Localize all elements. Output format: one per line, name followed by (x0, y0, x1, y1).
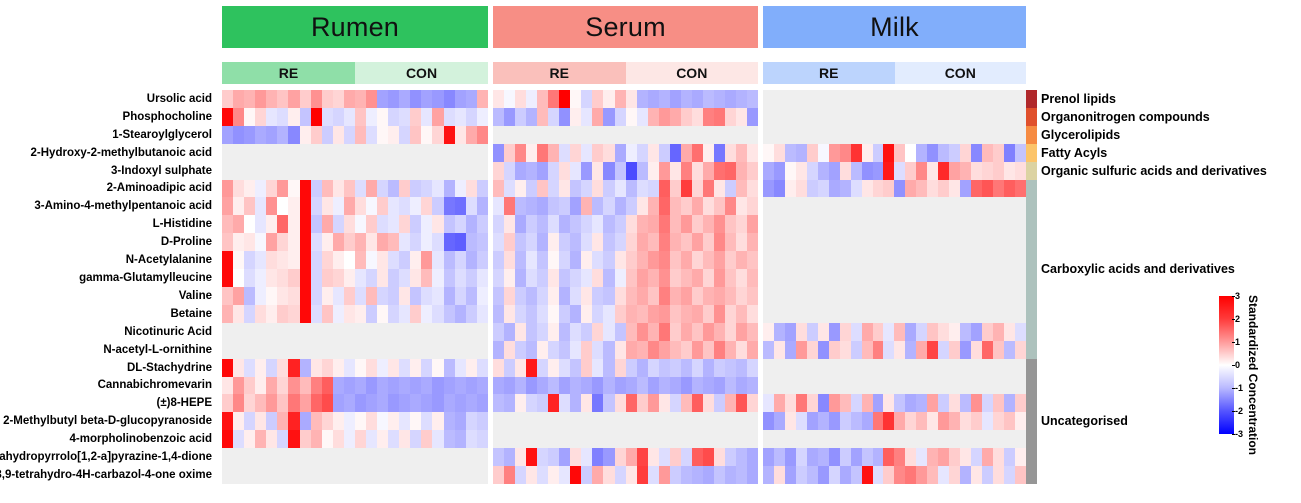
heatmap-cell (971, 394, 982, 412)
heatmap-cell (862, 412, 873, 430)
heatmap-cell (255, 197, 266, 215)
heatmap-cell (311, 323, 322, 341)
heatmap-cell (829, 305, 840, 323)
heatmap-cell (1004, 448, 1015, 466)
heatmap-cell (725, 251, 736, 269)
heatmap-cell (1015, 323, 1026, 341)
heatmap-cell (355, 90, 366, 108)
heatmap-cell (774, 233, 785, 251)
heatmap-cell (785, 323, 796, 341)
heatmap-cell (548, 108, 559, 126)
heatmap-cell (603, 269, 614, 287)
heatmap-cell (526, 359, 537, 377)
row-label: N-Acetylalanine (0, 251, 216, 269)
heatmap-cell (322, 377, 333, 395)
heatmap-cell (1015, 377, 1026, 395)
heatmap-cell (466, 287, 477, 305)
heatmap-cell (949, 377, 960, 395)
heatmap-row (493, 448, 758, 466)
heatmap-cell (537, 180, 548, 198)
heatmap-cell (796, 466, 807, 484)
heatmap-cell (444, 197, 455, 215)
heatmap-cell (960, 162, 971, 180)
heatmap-cell (796, 144, 807, 162)
heatmap-cell (255, 341, 266, 359)
heatmap-cell (548, 448, 559, 466)
heatmap-cell (615, 126, 626, 144)
heatmap-cell (626, 359, 637, 377)
heatmap-cell (548, 180, 559, 198)
heatmap-cell (615, 180, 626, 198)
heatmap-cell (559, 162, 570, 180)
heatmap-cell (455, 305, 466, 323)
heatmap-cell (873, 197, 884, 215)
heatmap-cell (960, 341, 971, 359)
heatmap-cell (603, 341, 614, 359)
heatmap-cell (785, 233, 796, 251)
heatmap-cell (862, 162, 873, 180)
heatmap-cell (288, 269, 299, 287)
heatmap-cell (916, 144, 927, 162)
heatmap-cell (477, 233, 488, 251)
heatmap-cell (883, 144, 894, 162)
heatmap-cell (244, 305, 255, 323)
heatmap-cell (725, 269, 736, 287)
heatmap-cell (300, 323, 311, 341)
heatmap-cell (421, 394, 432, 412)
heatmap-cell (466, 215, 477, 233)
heatmap-cell (432, 305, 443, 323)
heatmap-cell (344, 323, 355, 341)
heatmap-cell (455, 359, 466, 377)
heatmap-cell (670, 90, 681, 108)
heatmap-cell (277, 377, 288, 395)
heatmap-cell (938, 341, 949, 359)
category-color-strip (1026, 90, 1037, 484)
heatmap-cell (388, 430, 399, 448)
heatmap-cell (388, 197, 399, 215)
heatmap-cell (570, 430, 581, 448)
heatmap-cell (873, 180, 884, 198)
heatmap-cell (410, 323, 421, 341)
heatmap-cell (894, 394, 905, 412)
heatmap-cell (493, 377, 504, 395)
heatmap-cell (455, 323, 466, 341)
heatmap-cell (432, 287, 443, 305)
heatmap-cell (493, 215, 504, 233)
heatmap-cell (763, 412, 774, 430)
heatmap-cell (266, 126, 277, 144)
heatmap-cell (344, 197, 355, 215)
heatmap-cell (829, 377, 840, 395)
heatmap-cell (818, 341, 829, 359)
heatmap-cell (725, 394, 736, 412)
heatmap-cell (774, 466, 785, 484)
heatmap-cell (444, 108, 455, 126)
heatmap-cell (982, 180, 993, 198)
heatmap-cell (894, 323, 905, 341)
heatmap-row (493, 90, 758, 108)
heatmap-cell (681, 394, 692, 412)
heatmap-cell (1004, 430, 1015, 448)
heatmap-cell (1004, 90, 1015, 108)
heatmap-cell (818, 323, 829, 341)
heatmap-cell (938, 233, 949, 251)
treatment-band-rumen: RECON (222, 62, 488, 84)
heatmap-cell (993, 126, 1004, 144)
heatmap-cell (466, 377, 477, 395)
heatmap-cell (1004, 287, 1015, 305)
heatmap-cell (288, 90, 299, 108)
heatmap-cell (905, 269, 916, 287)
heatmap-cell (982, 233, 993, 251)
heatmap-cell (774, 162, 785, 180)
heatmap-cell (255, 287, 266, 305)
heatmap-cell (311, 215, 322, 233)
heatmap-cell (477, 448, 488, 466)
heatmap-cell (288, 323, 299, 341)
heatmap-cell (581, 341, 592, 359)
heatmap-cell (466, 108, 477, 126)
heatmap-cell (592, 215, 603, 233)
heatmap-row (493, 305, 758, 323)
heatmap-cell (927, 359, 938, 377)
heatmap-cell (818, 448, 829, 466)
heatmap-cell (388, 305, 399, 323)
heatmap-cell (982, 305, 993, 323)
heatmap-cell (537, 341, 548, 359)
heatmap-cell (626, 412, 637, 430)
heatmap-cell (266, 197, 277, 215)
heatmap-cell (548, 359, 559, 377)
heatmap-cell (840, 359, 851, 377)
heatmap-cell (377, 162, 388, 180)
heatmap-cell (515, 448, 526, 466)
heatmap-cell (681, 162, 692, 180)
heatmap-cell (862, 466, 873, 484)
heatmap-row (222, 466, 488, 484)
heatmap-cell (244, 448, 255, 466)
heatmap-cell (581, 430, 592, 448)
heatmap-cell (883, 412, 894, 430)
heatmap-cell (949, 108, 960, 126)
heatmap-cell (648, 215, 659, 233)
heatmap-cell (603, 466, 614, 484)
heatmap-cell (736, 377, 747, 395)
heatmap-cell (504, 377, 515, 395)
heatmap-cell (570, 305, 581, 323)
heatmap-cell (504, 144, 515, 162)
heatmap-cell (277, 233, 288, 251)
heatmap-cell (659, 394, 670, 412)
heatmap-cell (927, 323, 938, 341)
heatmap-cell (432, 430, 443, 448)
heatmap-cell (894, 162, 905, 180)
heatmap-cell (894, 144, 905, 162)
heatmap-cell (477, 269, 488, 287)
heatmap-cell (960, 251, 971, 269)
heatmap-cell (526, 162, 537, 180)
heatmap-cell (388, 233, 399, 251)
heatmap-cell (883, 430, 894, 448)
treatment-label: RE (550, 65, 569, 81)
treatment-con-milk: CON (895, 62, 1027, 84)
heatmap-cell (570, 359, 581, 377)
heatmap-cell (288, 430, 299, 448)
heatmap-cell (714, 108, 725, 126)
heatmap-cell (466, 323, 477, 341)
heatmap-cell (366, 144, 377, 162)
heatmap-cell (818, 180, 829, 198)
heatmap-cell (747, 341, 758, 359)
heatmap-cell (570, 233, 581, 251)
heatmap-cell (615, 377, 626, 395)
heatmap-cell (774, 430, 785, 448)
heatmap-cell (681, 180, 692, 198)
heatmap-cell (714, 162, 725, 180)
heatmap-cell (493, 180, 504, 198)
heatmap-row (493, 466, 758, 484)
heatmap-cell (796, 323, 807, 341)
heatmap-cell (366, 341, 377, 359)
heatmap-cell (648, 448, 659, 466)
heatmap-cell (344, 341, 355, 359)
heatmap-cell (807, 430, 818, 448)
heatmap-cell (526, 269, 537, 287)
heatmap-cell (1004, 180, 1015, 198)
heatmap-cell (763, 323, 774, 341)
heatmap-cell (736, 412, 747, 430)
heatmap-cell (681, 466, 692, 484)
heatmap-row (222, 144, 488, 162)
heatmap-cell (355, 162, 366, 180)
heatmap-cell (993, 162, 1004, 180)
heatmap-cell (233, 180, 244, 198)
heatmap-cell (938, 162, 949, 180)
heatmap-cell (648, 412, 659, 430)
heatmap-cell (377, 377, 388, 395)
heatmap-cell (747, 377, 758, 395)
heatmap-cell (388, 108, 399, 126)
heatmap-cell (982, 394, 993, 412)
heatmap-cell (322, 448, 333, 466)
heatmap-cell (840, 466, 851, 484)
category-swatch (1026, 90, 1037, 108)
heatmap-cell (493, 359, 504, 377)
heatmap-cell (504, 341, 515, 359)
heatmap-cell (333, 126, 344, 144)
heatmap-cell (233, 126, 244, 144)
heatmap-cell (873, 269, 884, 287)
heatmap-cell (927, 108, 938, 126)
heatmap-cell (493, 126, 504, 144)
heatmap-cell (477, 323, 488, 341)
heatmap-cell (807, 377, 818, 395)
heatmap-cell (938, 90, 949, 108)
heatmap-cell (659, 215, 670, 233)
heatmap-cell (851, 305, 862, 323)
heatmap-cell (526, 215, 537, 233)
heatmap-cell (659, 180, 670, 198)
heatmap-cell (244, 466, 255, 484)
heatmap-cell (938, 197, 949, 215)
heatmap-cell (455, 466, 466, 484)
heatmap-cell (692, 394, 703, 412)
heatmap-cell (277, 305, 288, 323)
heatmap-cell (873, 412, 884, 430)
heatmap-cell (648, 90, 659, 108)
heatmap-cell (493, 430, 504, 448)
heatmap-cell (703, 197, 714, 215)
heatmap-cell (266, 323, 277, 341)
heatmap-cell (366, 90, 377, 108)
heatmap-cell (796, 287, 807, 305)
heatmap-cell (322, 251, 333, 269)
heatmap-cell (785, 144, 796, 162)
heatmap-cell (692, 287, 703, 305)
heatmap-cell (477, 305, 488, 323)
heatmap-cell (916, 251, 927, 269)
heatmap-cell (266, 180, 277, 198)
heatmap-cell (648, 233, 659, 251)
heatmap-cell (244, 180, 255, 198)
heatmap-cell (244, 197, 255, 215)
heatmap-cell (455, 126, 466, 144)
heatmap-cell (736, 108, 747, 126)
heatmap-row (493, 126, 758, 144)
heatmap-cell (670, 108, 681, 126)
heatmap-cell (432, 126, 443, 144)
heatmap-cell (659, 448, 670, 466)
row-label: 1-Stearoylglycerol (0, 126, 216, 144)
heatmap-cell (537, 394, 548, 412)
category-label: Uncategorised (1041, 415, 1128, 428)
heatmap-cell (432, 269, 443, 287)
heatmap-cell (592, 144, 603, 162)
heatmap-cell (399, 251, 410, 269)
colorbar-tick: 3 (1235, 291, 1240, 301)
heatmap-cell (444, 233, 455, 251)
heatmap-cell (366, 108, 377, 126)
heatmap-cell (432, 162, 443, 180)
heatmap-cell (366, 359, 377, 377)
heatmap-cell (421, 305, 432, 323)
heatmap-cell (333, 287, 344, 305)
heatmap-cell (603, 448, 614, 466)
heatmap-cell (916, 269, 927, 287)
heatmap-cell (455, 251, 466, 269)
heatmap-cell (883, 251, 894, 269)
heatmap-cell (548, 287, 559, 305)
heatmap-cell (747, 412, 758, 430)
heatmap-cell (570, 448, 581, 466)
heatmap-row (222, 305, 488, 323)
heatmap-cell (455, 144, 466, 162)
heatmap-cell (288, 341, 299, 359)
heatmap-cell (366, 323, 377, 341)
heatmap-cell (344, 126, 355, 144)
heatmap-row (493, 197, 758, 215)
heatmap-cell (421, 180, 432, 198)
heatmap-cell (592, 251, 603, 269)
heatmap-cell (399, 341, 410, 359)
heatmap-cell (421, 359, 432, 377)
heatmap-cell (255, 448, 266, 466)
heatmap-cell (862, 359, 873, 377)
heatmap-cell (982, 412, 993, 430)
heatmap-cell (681, 126, 692, 144)
heatmap-cell (949, 180, 960, 198)
heatmap-cell (993, 197, 1004, 215)
heatmap-cell (277, 466, 288, 484)
heatmap-cell (504, 233, 515, 251)
heatmap-cell (637, 448, 648, 466)
heatmap-cell (421, 162, 432, 180)
heatmap-cell (504, 430, 515, 448)
heatmap-cell (796, 126, 807, 144)
heatmap-cell (840, 162, 851, 180)
heatmap-cell (982, 215, 993, 233)
heatmap-cell (615, 430, 626, 448)
heatmap-cell (515, 305, 526, 323)
heatmap-cell (829, 430, 840, 448)
heatmap-cell (222, 287, 233, 305)
heatmap-cell (993, 269, 1004, 287)
heatmap-cell (1015, 269, 1026, 287)
heatmap-cell (311, 377, 322, 395)
heatmap-cell (515, 197, 526, 215)
heatmap-cell (603, 197, 614, 215)
heatmap-cell (277, 251, 288, 269)
heatmap-cell (851, 377, 862, 395)
heatmap-cell (222, 108, 233, 126)
heatmap-cell (504, 162, 515, 180)
category-label: Prenol lipids (1041, 93, 1116, 106)
category-label: Organonitrogen compounds (1041, 111, 1210, 124)
heatmap-cell (300, 430, 311, 448)
heatmap-cell (736, 269, 747, 287)
heatmap-cell (432, 448, 443, 466)
heatmap-cell (233, 359, 244, 377)
heatmap-cell (807, 162, 818, 180)
heatmap-cell (883, 323, 894, 341)
heatmap-cell (504, 287, 515, 305)
heatmap-cell (774, 180, 785, 198)
heatmap-cell (774, 251, 785, 269)
heatmap-cell (637, 377, 648, 395)
heatmap-cell (333, 197, 344, 215)
colorbar-tick: 1 (1235, 337, 1240, 347)
heatmap-cell (603, 215, 614, 233)
heatmap-cell (526, 197, 537, 215)
heatmap-cell (559, 323, 570, 341)
heatmap-cell (526, 377, 537, 395)
heatmap-row (763, 412, 1026, 430)
heatmap-cell (410, 251, 421, 269)
heatmap-cell (266, 430, 277, 448)
heatmap-cell (515, 287, 526, 305)
heatmap-cell (692, 126, 703, 144)
heatmap-cell (366, 394, 377, 412)
heatmap-cell (615, 412, 626, 430)
heatmap-cell (244, 90, 255, 108)
heatmap-cell (774, 197, 785, 215)
heatmap-cell (333, 180, 344, 198)
heatmap-cell (905, 180, 916, 198)
heatmap-cell (410, 394, 421, 412)
heatmap-cell (905, 412, 916, 430)
heatmap-cell (927, 126, 938, 144)
